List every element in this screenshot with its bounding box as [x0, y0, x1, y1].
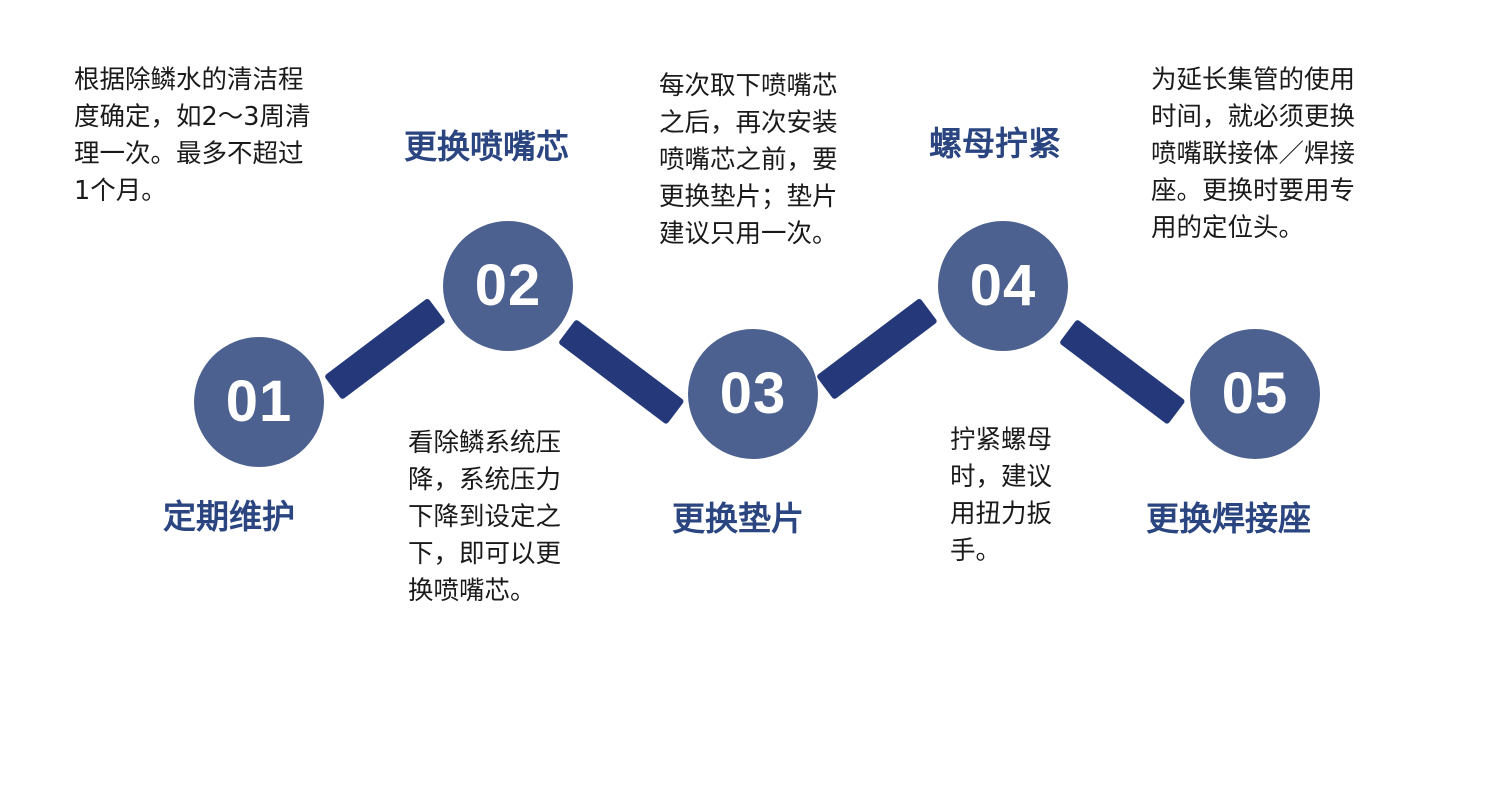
step-title-01: 定期维护 — [163, 498, 295, 536]
step-body-02: 看除鳞系统压 降，系统压力 下降到设定之 下，即可以更 换喷嘴芯。 — [408, 425, 623, 610]
step-number-03: 03 — [720, 365, 787, 423]
step-node-02[interactable]: 02 — [443, 221, 573, 351]
step-title-03: 更换垫片 — [672, 500, 804, 538]
connector-03-04 — [816, 298, 938, 400]
infographic-canvas: 01 02 03 04 05 根据除鳞水的清洁程 度确定，如2～3周清 理一次。… — [0, 0, 1501, 807]
step-number-01: 01 — [226, 373, 293, 431]
step-title-05: 更换焊接座 — [1146, 500, 1311, 538]
connector-04-05 — [1059, 319, 1186, 425]
step-body-05: 为延长集管的使用 时间，就必须更换 喷嘴联接体／焊接 座。更换时要用专 用的定位… — [1151, 62, 1421, 247]
connector-02-03 — [558, 319, 685, 425]
step-node-01[interactable]: 01 — [194, 337, 324, 467]
connector-01-02 — [324, 298, 446, 400]
step-body-03: 每次取下喷嘴芯 之后，再次安装 喷嘴芯之前，要 更换垫片；垫片 建议只用一次。 — [659, 68, 904, 253]
step-node-05[interactable]: 05 — [1190, 329, 1320, 459]
step-title-02: 更换喷嘴芯 — [404, 128, 569, 166]
step-number-02: 02 — [475, 257, 542, 315]
step-title-04: 螺母拧紧 — [929, 125, 1061, 163]
step-body-01: 根据除鳞水的清洁程 度确定，如2～3周清 理一次。最多不超过 1个月。 — [74, 62, 404, 210]
step-node-04[interactable]: 04 — [938, 221, 1068, 351]
step-body-04: 拧紧螺母 时，建议 用扭力扳 手。 — [950, 422, 1090, 570]
step-number-04: 04 — [970, 257, 1037, 315]
step-node-03[interactable]: 03 — [688, 329, 818, 459]
step-number-05: 05 — [1222, 365, 1289, 423]
